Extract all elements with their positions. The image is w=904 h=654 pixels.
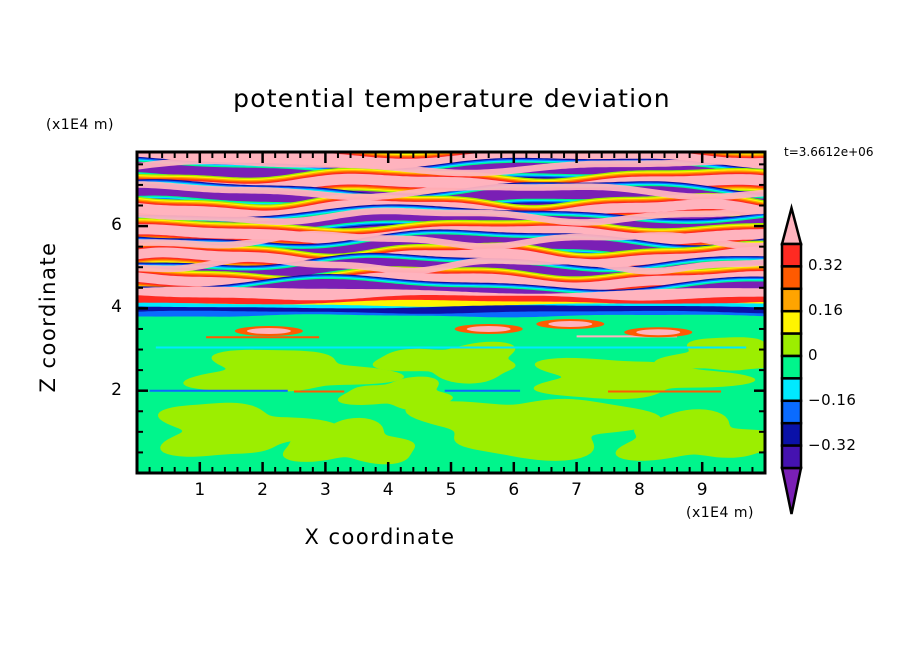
x-tick-label: 4	[368, 480, 408, 500]
x-tick-label: 3	[305, 480, 345, 500]
colorbar-tick-label: −0.16	[808, 391, 878, 409]
contour-plot	[0, 0, 904, 654]
x-tick-label: 6	[494, 480, 534, 500]
x-tick-label: 9	[682, 480, 722, 500]
x-tick-label: 5	[431, 480, 471, 500]
y-tick-label: 2	[96, 380, 122, 400]
y-tick-label: 6	[96, 215, 122, 235]
x-tick-label: 7	[557, 480, 597, 500]
y-tick-label: 4	[96, 297, 122, 317]
colorbar-tick-label: −0.32	[808, 436, 878, 454]
colorbar-tick-label: 0	[808, 346, 878, 364]
x-tick-label: 8	[619, 480, 659, 500]
x-tick-label: 2	[243, 480, 283, 500]
plot-root: potential temperature deviation (x1E4 m)…	[0, 0, 904, 654]
colorbar-tick-label: 0.32	[808, 256, 878, 274]
colorbar-tick-label: 0.16	[808, 301, 878, 319]
x-tick-label: 1	[180, 480, 220, 500]
